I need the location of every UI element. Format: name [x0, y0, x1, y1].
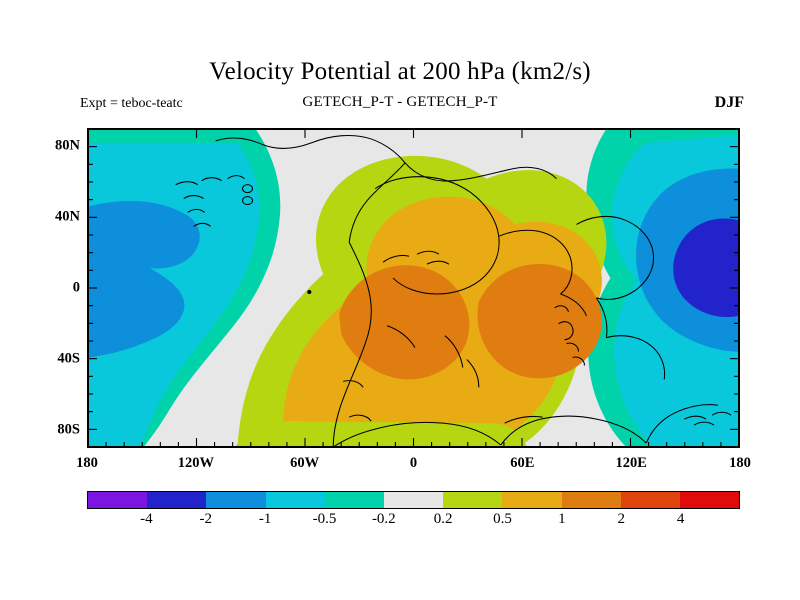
- y-tick-label: 80S: [57, 422, 80, 439]
- colorbar-swatch: [147, 492, 206, 508]
- colorbar-tick-label: -1: [259, 511, 272, 528]
- x-tick-label: 180: [76, 455, 98, 472]
- colorbar-tick-label: -0.5: [313, 511, 337, 528]
- colorbar-swatch: [443, 492, 502, 508]
- colorbar-tick-label: -4: [140, 511, 153, 528]
- colorbar-tick-label: -0.2: [372, 511, 396, 528]
- y-tick-label: 80N: [55, 137, 80, 154]
- colorbar-swatch: [502, 492, 561, 508]
- x-tick-label: 60W: [290, 455, 319, 472]
- band-neg4-east-core: [674, 260, 706, 284]
- colorbar-tick-label: 0.2: [434, 511, 453, 528]
- band-pos02-south: [236, 421, 527, 447]
- colorbar-swatch: [206, 492, 265, 508]
- page-title: Velocity Potential at 200 hPa (km2/s): [0, 58, 800, 86]
- y-tick-label: 40N: [55, 208, 80, 225]
- velocity-potential-field: [88, 129, 739, 447]
- colorbar: [87, 491, 740, 509]
- colorbar-tick-label: 2: [618, 511, 626, 528]
- colorbar-tick-label: -2: [199, 511, 212, 528]
- figure-canvas: Velocity Potential at 200 hPa (km2/s) GE…: [0, 0, 800, 600]
- colorbar-swatch: [621, 492, 680, 508]
- colorbar-swatch: [88, 492, 147, 508]
- experiment-label: Expt = teboc-teatc: [80, 96, 183, 112]
- y-axis-labels: 80N40N040S80S: [20, 128, 80, 448]
- colorbar-tick-label: 1: [558, 511, 566, 528]
- x-tick-label: 120E: [615, 455, 646, 472]
- colorbar-swatch: [384, 492, 443, 508]
- colorbar-swatch: [266, 492, 325, 508]
- colorbar-tick-label: 4: [677, 511, 685, 528]
- season-label: DJF: [715, 94, 744, 112]
- colorbar-tick-label: 0.5: [493, 511, 512, 528]
- x-axis-labels: 180120W60W060E120E180: [87, 455, 740, 477]
- y-tick-label: 0: [73, 280, 80, 297]
- colorbar-swatch: [680, 492, 739, 508]
- colorbar-swatch: [562, 492, 621, 508]
- x-tick-label: 180: [729, 455, 751, 472]
- colorbar-tick-labels: -4-2-1-0.5-0.20.20.5124: [87, 511, 740, 533]
- map-plot-area: [87, 128, 740, 448]
- y-tick-label: 40S: [57, 351, 80, 368]
- x-tick-label: 0: [410, 455, 417, 472]
- colorbar-swatch: [325, 492, 384, 508]
- x-tick-label: 120W: [178, 455, 214, 472]
- x-tick-label: 60E: [510, 455, 534, 472]
